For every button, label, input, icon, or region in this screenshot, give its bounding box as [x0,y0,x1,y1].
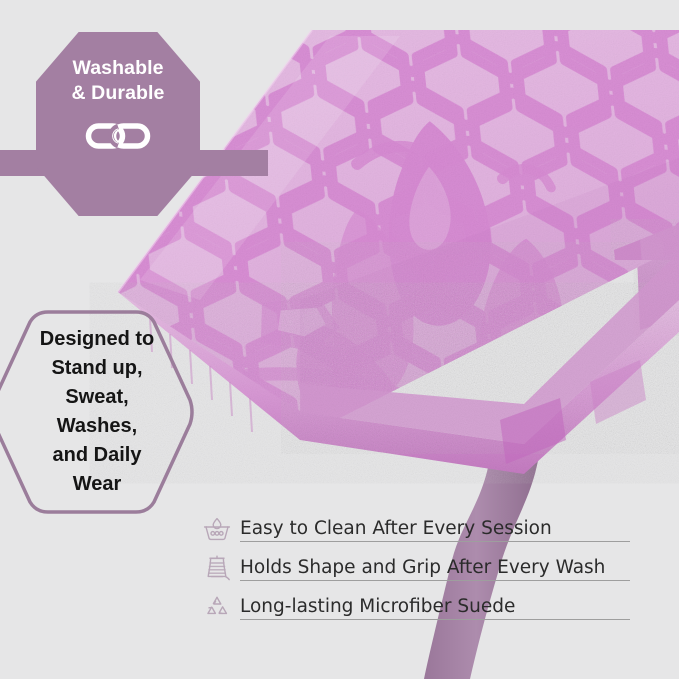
badge-line-3: Sweat, [65,383,128,412]
feature-list: Easy to Clean After Every Session [202,511,630,628]
product-feature-graphic: Washable & Durable Designed to Stand up,… [0,0,679,679]
recycle-icon [202,594,232,620]
badge-line-4: Washes, [57,412,137,441]
feature-row-holds-shape: Holds Shape and Grip After Every Wash [202,550,630,581]
feature-label: Easy to Clean After Every Session [240,518,552,539]
badge-line-1: Designed to [40,325,154,354]
badge-title-line-1: Washable [72,56,163,81]
chain-links-icon [85,119,151,158]
feature-text-wrap: Easy to Clean After Every Session [240,518,630,542]
feature-label: Long-lasting Microfiber Suede [240,596,515,617]
badge-line-2: Stand up, [51,354,142,383]
feature-row-microfiber-suede: Long-lasting Microfiber Suede [202,589,630,620]
badge-title-line-2: & Durable [71,81,164,106]
wash-basin-icon [202,516,232,542]
badge-line-6: Wear [73,470,122,499]
designed-to-badge-text: Designed to Stand up, Sweat, Washes, and… [0,308,196,516]
feature-row-easy-to-clean: Easy to Clean After Every Session [202,511,630,542]
badge-line-5: and Daily [53,441,142,470]
thread-spool-icon [202,555,232,581]
washable-durable-badge: Washable & Durable [36,32,200,216]
designed-to-badge: Designed to Stand up, Sweat, Washes, and… [0,308,196,516]
feature-text-wrap: Long-lasting Microfiber Suede [240,596,630,620]
feature-text-wrap: Holds Shape and Grip After Every Wash [240,557,630,581]
feature-label: Holds Shape and Grip After Every Wash [240,557,605,578]
